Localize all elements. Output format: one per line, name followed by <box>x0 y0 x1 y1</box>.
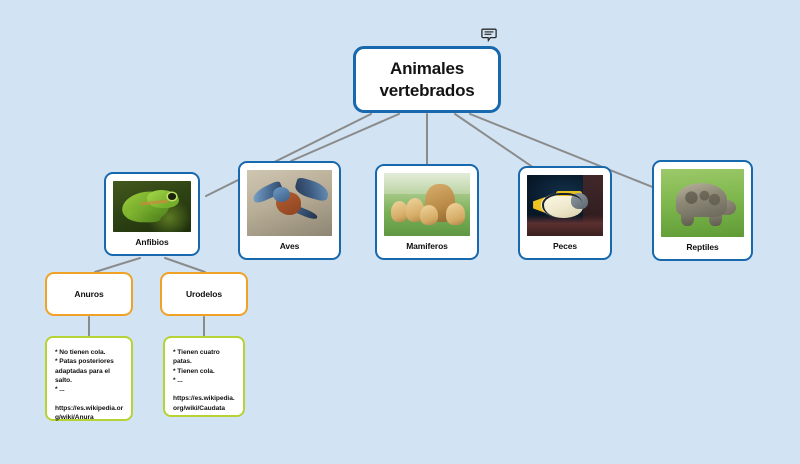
edge-root-aves <box>291 114 399 161</box>
category-label-urodelos: Urodelos <box>186 289 222 299</box>
tortoise-photo <box>661 169 744 237</box>
branch-label-peces: Peces <box>553 236 577 254</box>
note-body-urodelos: * Tienen cuatro patas. * Tienen cola. * … <box>173 348 236 385</box>
note-url-urodelos[interactable]: https://es.wikipedia.org/wiki/Caudata <box>173 394 236 413</box>
comment-icon[interactable] <box>481 27 497 43</box>
dogs-photo <box>384 173 470 236</box>
branch-label-aves: Aves <box>280 236 300 254</box>
category-node-urodelos[interactable]: Urodelos <box>160 272 248 316</box>
fish-photo <box>527 175 603 236</box>
note-node-anuros[interactable]: * No tienen cola. * Patas posteriores ad… <box>45 336 133 421</box>
branch-node-mamiferos[interactable]: Mamiferos <box>375 164 479 260</box>
branch-label-reptiles: Reptiles <box>686 237 718 255</box>
root-node-label: Animales vertebrados <box>364 58 490 102</box>
mindmap-canvas[interactable]: Animales vertebrados Anfibios Aves <box>0 0 800 464</box>
edge-anfibios-urodelos <box>165 258 205 272</box>
branch-node-peces[interactable]: Peces <box>518 166 612 260</box>
branch-node-anfibios[interactable]: Anfibios <box>104 172 200 256</box>
branch-node-aves[interactable]: Aves <box>238 161 341 260</box>
branch-node-reptiles[interactable]: Reptiles <box>652 160 753 261</box>
note-url-anuros[interactable]: https://es.wikipedia.org/wiki/Anura <box>55 404 124 423</box>
root-node[interactable]: Animales vertebrados <box>353 46 501 113</box>
note-node-urodelos[interactable]: * Tienen cuatro patas. * Tienen cola. * … <box>163 336 245 417</box>
branch-label-mamiferos: Mamiferos <box>406 236 448 254</box>
category-node-anuros[interactable]: Anuros <box>45 272 133 316</box>
category-label-anuros: Anuros <box>74 289 103 299</box>
branch-label-anfibios: Anfibios <box>135 232 168 250</box>
edge-anfibios-anuros <box>95 258 140 272</box>
note-body-anuros: * No tienen cola. * Patas posteriores ad… <box>55 348 124 395</box>
frog-photo <box>113 181 191 232</box>
bird-photo <box>247 170 332 236</box>
